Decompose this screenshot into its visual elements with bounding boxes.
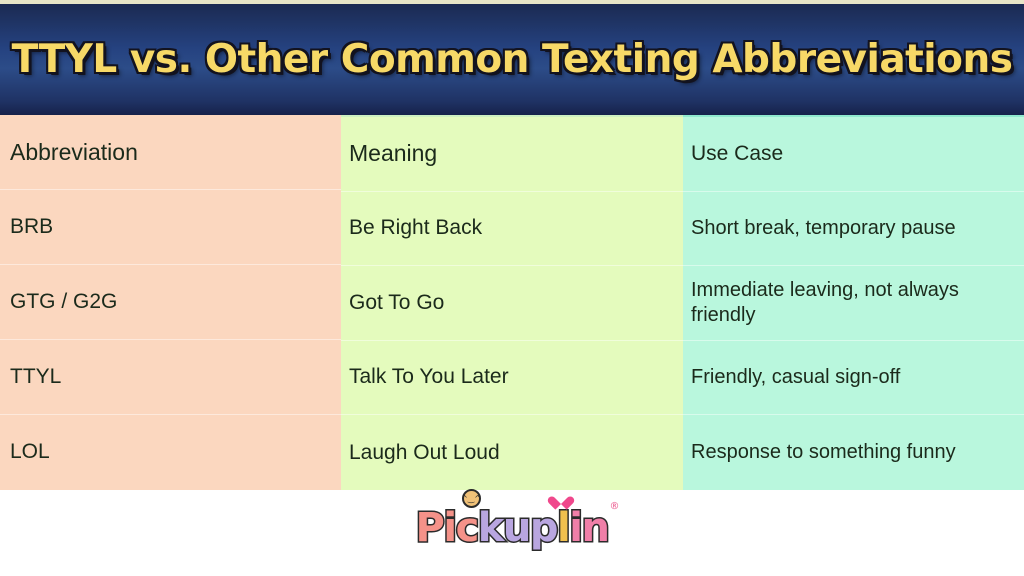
logo-letter: P [416, 508, 444, 548]
logo-letter: u [503, 508, 530, 548]
table-row: Laugh Out Loud [341, 415, 683, 490]
page-title: TTYL vs. Other Common Texting Abbreviati… [12, 37, 1013, 82]
logo-letter: l [557, 508, 569, 548]
table-row: Immediate leaving, not always friendly [683, 266, 1024, 341]
table-row: GTG / G2G [0, 265, 341, 340]
table-row: Got To Go [341, 266, 683, 341]
infographic-root: TTYL vs. Other Common Texting Abbreviati… [0, 0, 1024, 576]
table-row: BRB [0, 190, 341, 265]
column-use-case: Use Case Short break, temporary pause Im… [683, 115, 1024, 490]
title-banner: TTYL vs. Other Common Texting Abbreviati… [0, 4, 1024, 115]
table-row: Short break, temporary pause [683, 192, 1024, 267]
table-row: Response to something funny [683, 415, 1024, 490]
logo-letter: i [443, 508, 455, 548]
smiley-face-icon: ^‿^ [462, 489, 481, 508]
column-meaning: Meaning Be Right Back Got To Go Talk To … [341, 115, 683, 490]
table-row: Friendly, casual sign-off [683, 341, 1024, 416]
column-abbreviation: Abbreviation BRB GTG / G2G TTYL LOL [0, 115, 341, 490]
table-row: Be Right Back [341, 192, 683, 267]
brand-logo: Pickuplin ^‿^ ® [0, 498, 1024, 558]
logo-letter: p [530, 508, 557, 548]
column-header-meaning: Meaning [341, 117, 683, 192]
table-row: LOL [0, 415, 341, 490]
logo-letter: i [569, 508, 581, 548]
logo-letter: c [456, 508, 478, 548]
table-row: TTYL [0, 340, 341, 415]
logo-letter: k [478, 508, 503, 548]
trademark-symbol: ® [609, 502, 619, 512]
table-row: Talk To You Later [341, 341, 683, 416]
abbreviations-table: Abbreviation BRB GTG / G2G TTYL LOL Mean… [0, 115, 1024, 490]
logo-wordmark: Pickuplin ^‿^ ® [416, 508, 609, 548]
logo-letter: n [581, 508, 608, 548]
column-header-use-case: Use Case [683, 117, 1024, 192]
column-header-abbreviation: Abbreviation [0, 115, 341, 190]
heart-icon [553, 491, 569, 507]
